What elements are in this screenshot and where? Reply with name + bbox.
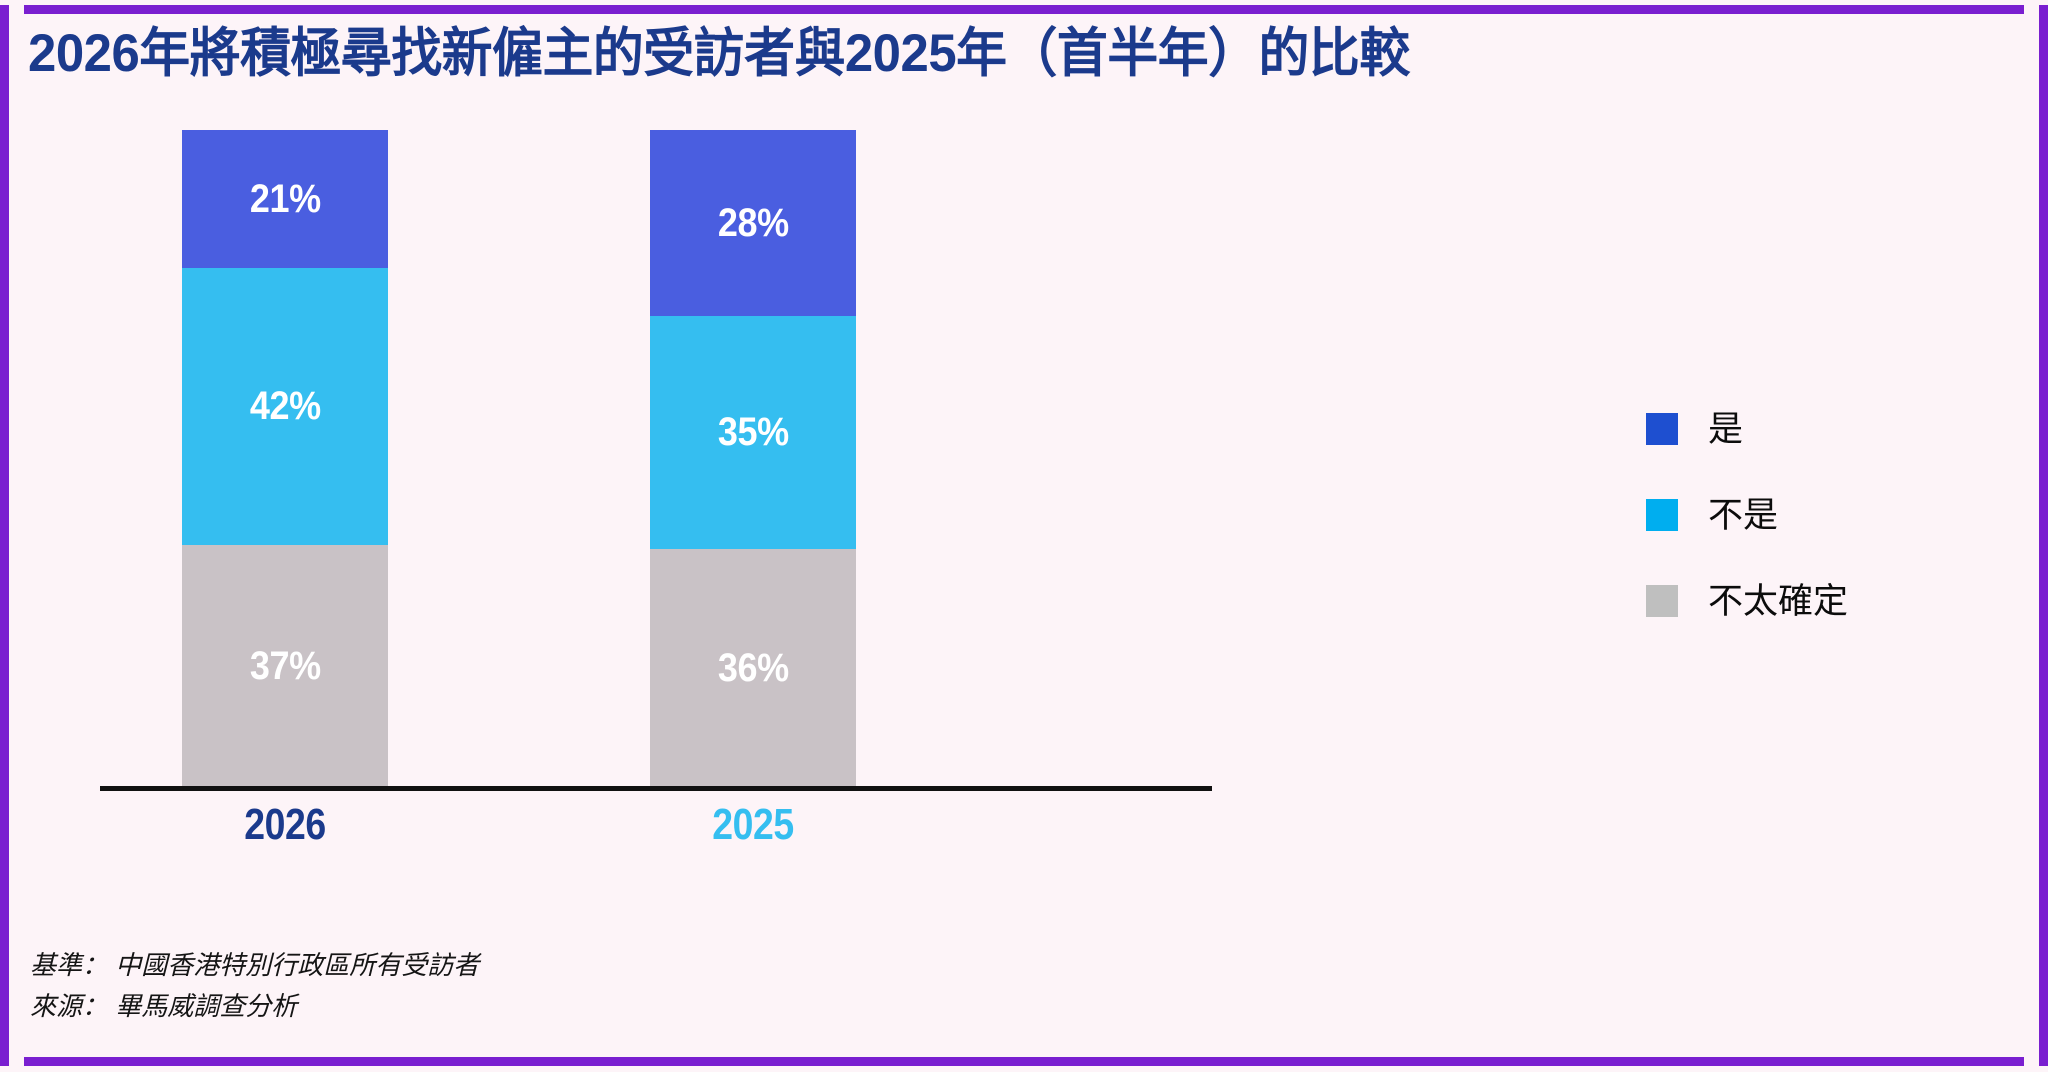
legend-item-yes: 是 [1646,408,1848,450]
x-axis-tick-label: 2025 [712,800,794,850]
bar-segment-label: 37% [250,644,321,689]
legend-item-no: 不是 [1646,494,1848,536]
footnote-source: 來源： 畢馬威調查分析 [30,986,479,1027]
x-axis-tick-2026: 2026 [182,800,388,850]
footnotes: 基準： 中國香港特別行政區所有受訪者 來源： 畢馬威調查分析 [30,945,479,1027]
x-axis-line [100,786,1212,791]
bar-segment-label: 42% [250,384,321,429]
x-axis-tick-2025: 2025 [650,800,856,850]
bar-segment-2025-yes: 28% [650,130,856,316]
legend-swatch-no [1646,499,1678,531]
legend-label-yes: 是 [1708,412,1743,447]
stacked-bar-2026: 21% 42% 37% [182,130,388,788]
footnote-base: 基準： 中國香港特別行政區所有受訪者 [30,945,479,986]
legend-item-unsure: 不太確定 [1646,580,1848,622]
legend-swatch-yes [1646,413,1678,445]
chart-legend: 是 不是 不太確定 [1646,408,1848,666]
x-axis-tick-label: 2026 [244,800,326,850]
bar-segment-2026-unsure: 37% [182,545,388,788]
bar-segment-label: 28% [718,201,789,246]
bar-segment-2026-no: 42% [182,268,388,544]
legend-swatch-unsure [1646,585,1678,617]
bar-segment-2025-no: 35% [650,316,856,549]
stacked-bar-2025: 28% 35% 36% [650,130,856,788]
legend-label-no: 不是 [1708,498,1778,533]
bar-segment-2026-yes: 21% [182,130,388,268]
legend-label-unsure: 不太確定 [1708,584,1848,619]
slide-canvas: 2026年將積極尋找新僱主的受訪者與2025年（首半年）的比較 21% 42% … [0,0,2048,1072]
bar-segment-label: 21% [250,177,321,222]
bar-segment-label: 35% [718,410,789,455]
bar-segment-2025-unsure: 36% [650,549,856,788]
bar-segment-label: 36% [718,646,789,691]
